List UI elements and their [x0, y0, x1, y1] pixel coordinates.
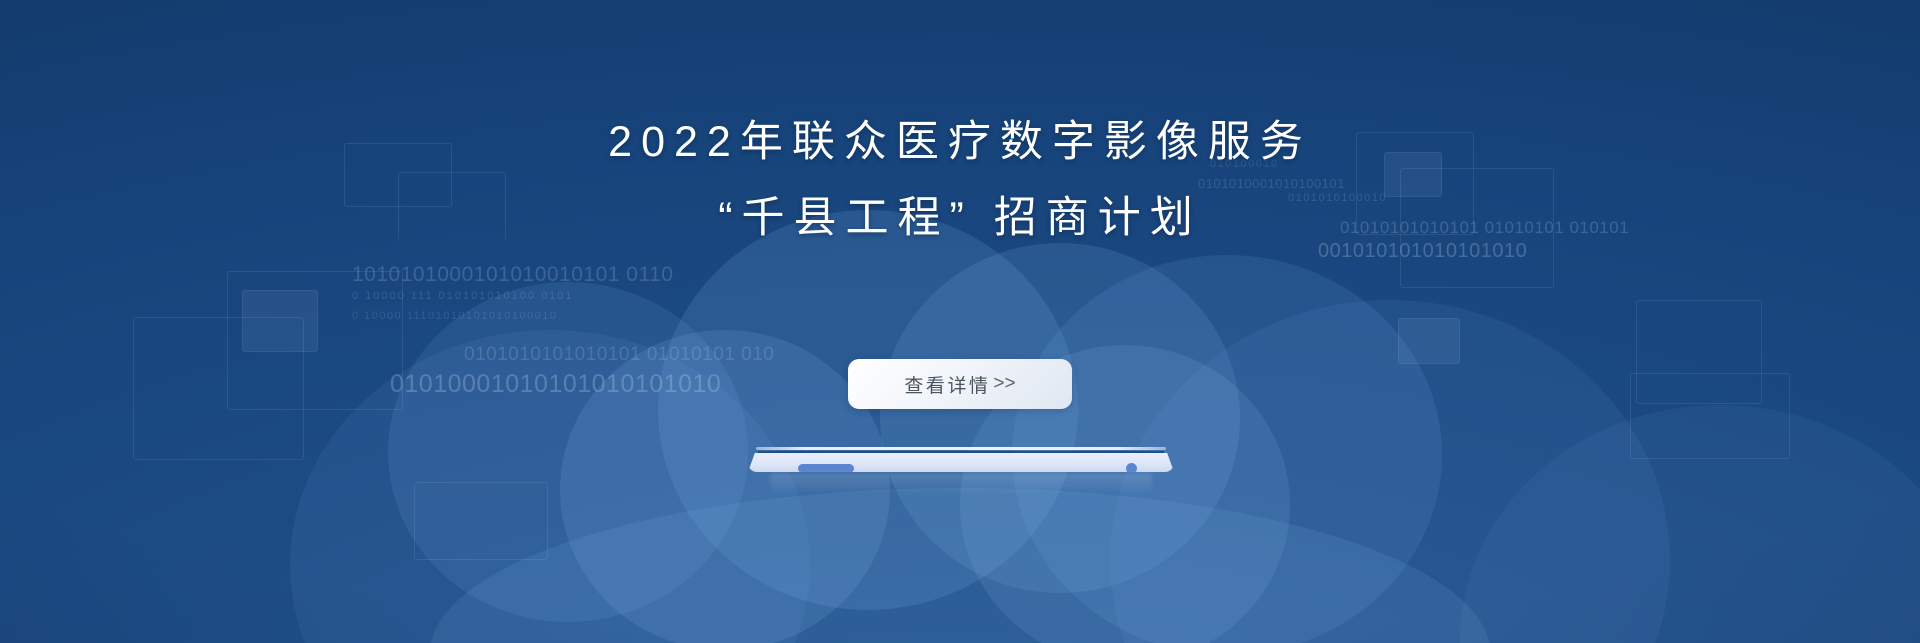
view-details-label: 查看详情 — [904, 371, 990, 398]
laptop-base — [748, 453, 1174, 472]
view-details-button[interactable]: 查看详情 >> — [848, 359, 1072, 409]
binary-decor-text: 0101010001010100101 — [1198, 176, 1345, 191]
decor-rectangle — [1630, 373, 1790, 459]
laptop-lid-edge — [756, 447, 1166, 450]
decor-rectangle-filled — [1398, 318, 1460, 364]
binary-decor-text: 0 10000 111 010101010100 0101 — [352, 290, 574, 302]
decor-stair-rectangle — [344, 143, 452, 207]
binary-decor-text: 0 10000 11101010101010100010 — [352, 310, 558, 322]
decor-rectangle — [414, 482, 548, 560]
binary-decor-text: 001010101010101010 — [1318, 240, 1527, 263]
decor-rectangle-filled — [242, 290, 318, 352]
binary-decor-text: 0101010101010101 01010101 010 — [464, 344, 774, 366]
binary-decor-text: 1010101000101010010101 0110 — [352, 263, 673, 287]
binary-decor-text: 0101010100010 — [1288, 192, 1387, 204]
laptop-illustration — [748, 447, 1174, 475]
laptop-reflection — [770, 473, 1152, 495]
binary-decor-text: 010100010 — [1210, 158, 1279, 170]
promo-banner: 1010101000101010010101 0110 0 10000 111 … — [0, 0, 1920, 643]
laptop-hinge-gap — [758, 451, 1164, 453]
double-chevron-right-icon: >> — [993, 373, 1015, 395]
laptop-indicator-bar — [798, 464, 854, 473]
binary-decor-text: 01010101010101 01010101 010101 — [1340, 218, 1629, 238]
binary-decor-text: 01010001010101010101010 — [390, 370, 721, 399]
decor-rectangle-filled — [1384, 152, 1442, 197]
